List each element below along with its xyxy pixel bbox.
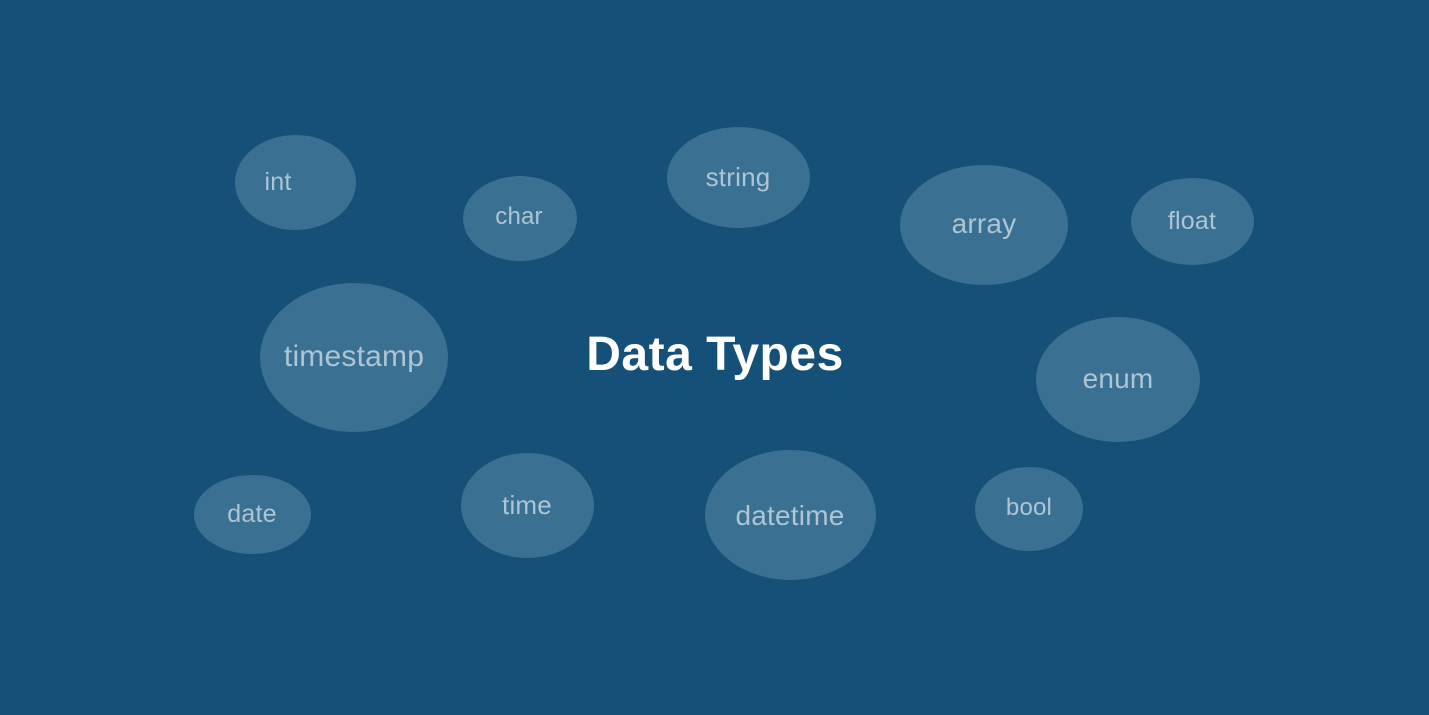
bubble-label-bool: bool [1006, 496, 1052, 520]
bubble-label-array: array [952, 210, 1017, 238]
page-title: Data Types [586, 331, 844, 379]
bubble-label-string: string [706, 164, 771, 190]
bubble-label-datetime: datetime [736, 502, 845, 530]
bubble-label-time: time [502, 492, 552, 518]
bubble-label-float: float [1168, 209, 1216, 234]
bubble-label-char: char [495, 205, 543, 229]
bubble-cloud-canvas: intcharstringarrayfloattimestampenumdate… [0, 0, 1429, 715]
bubble-label-int: int [264, 170, 291, 195]
bubble-label-timestamp: timestamp [284, 342, 424, 372]
bubble-int[interactable] [235, 135, 356, 230]
bubble-label-enum: enum [1083, 365, 1154, 393]
bubble-label-date: date [227, 502, 276, 527]
